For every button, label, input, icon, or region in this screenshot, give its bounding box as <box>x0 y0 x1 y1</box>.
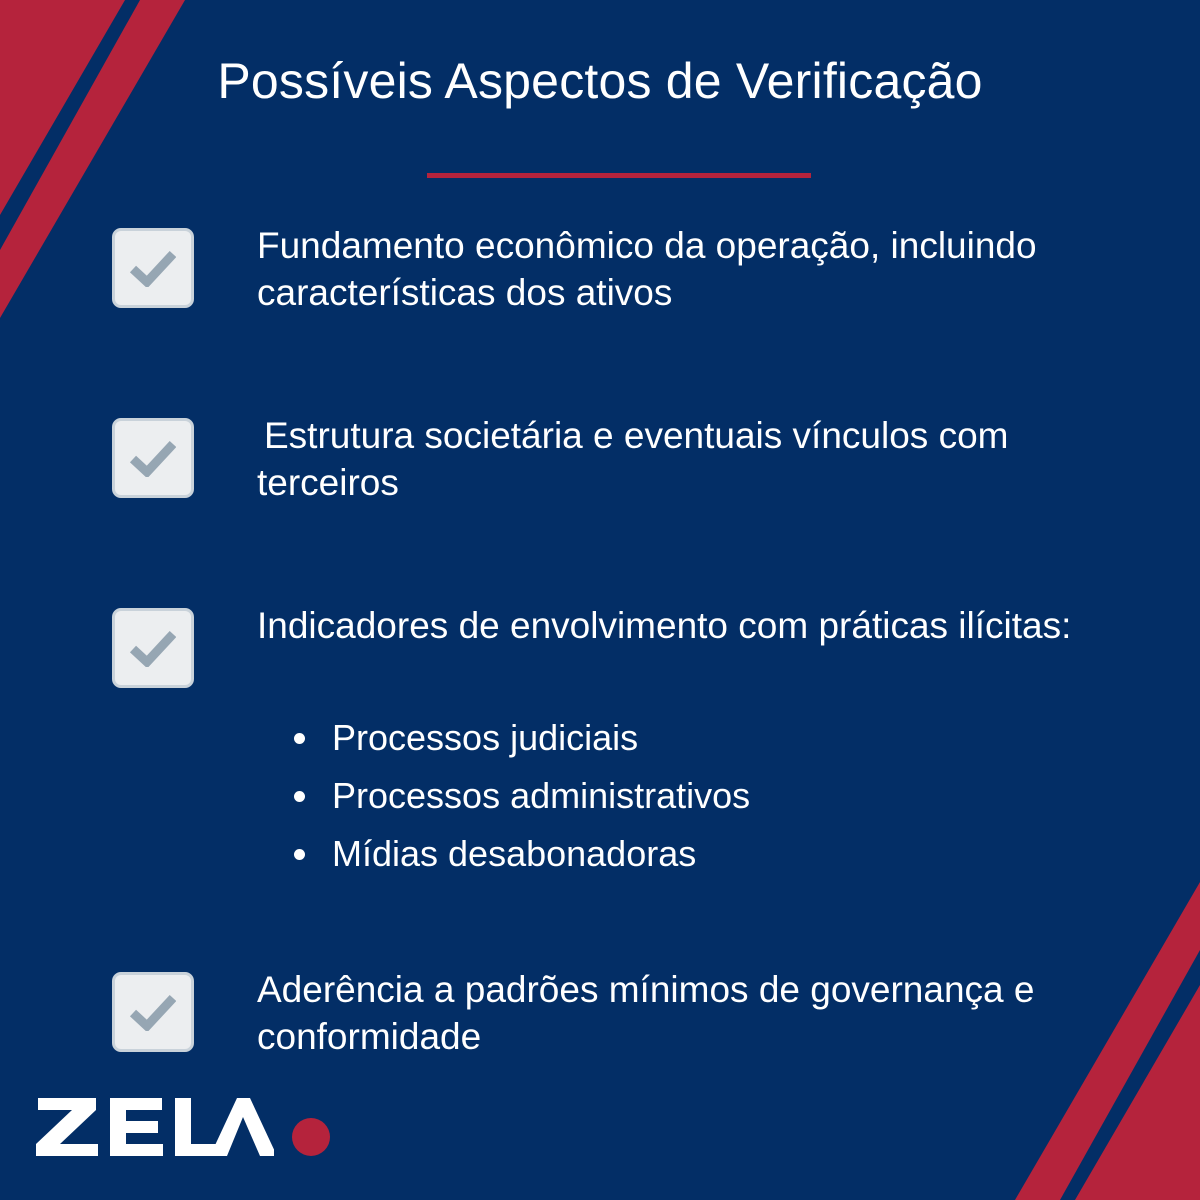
checklist-item[interactable]: Fundamento econômico da operação, inclui… <box>0 222 1200 317</box>
slide-canvas: Possíveis Aspectos de Verificação Fundam… <box>0 0 1200 1200</box>
sub-bullet-label: Processos administrativos <box>332 775 750 816</box>
sub-bullet-item: Mídias desabonadoras <box>290 825 750 883</box>
checklist-item[interactable]: Aderência a padrões mínimos de governanç… <box>0 966 1200 1061</box>
zela-wordmark-icon <box>34 1096 274 1158</box>
checkbox-checked-icon[interactable] <box>112 418 194 498</box>
page-title: Possíveis Aspectos de Verificação <box>0 54 1200 109</box>
checkbox-checked-icon[interactable] <box>112 972 194 1052</box>
checklist-item-label: Indicadores de envolvimento com práticas… <box>257 602 1200 649</box>
bullet-dot-icon <box>294 849 305 860</box>
sub-bullet-list: Processos judiciais Processos administra… <box>290 709 750 883</box>
sub-bullet-label: Mídias desabonadoras <box>332 833 696 874</box>
checklist-item[interactable]: Indicadores de envolvimento com práticas… <box>0 602 1200 688</box>
bullet-dot-icon <box>294 791 305 802</box>
zela-logo-dot-icon <box>292 1118 330 1156</box>
zela-logo <box>34 1096 330 1158</box>
checklist-item-label: Estrutura societária e eventuais vínculo… <box>257 412 1200 507</box>
checkbox-checked-icon[interactable] <box>112 608 194 688</box>
bullet-dot-icon <box>294 733 305 744</box>
checklist-item-label: Aderência a padrões mínimos de governanç… <box>257 966 1200 1061</box>
sub-bullet-item: Processos administrativos <box>290 767 750 825</box>
sub-bullet-item: Processos judiciais <box>290 709 750 767</box>
title-underline-rule <box>427 173 811 178</box>
sub-bullet-label: Processos judiciais <box>332 717 638 758</box>
checklist-item[interactable]: Estrutura societária e eventuais vínculo… <box>0 412 1200 507</box>
checkbox-checked-icon[interactable] <box>112 228 194 308</box>
checklist-item-label: Fundamento econômico da operação, inclui… <box>257 222 1200 317</box>
